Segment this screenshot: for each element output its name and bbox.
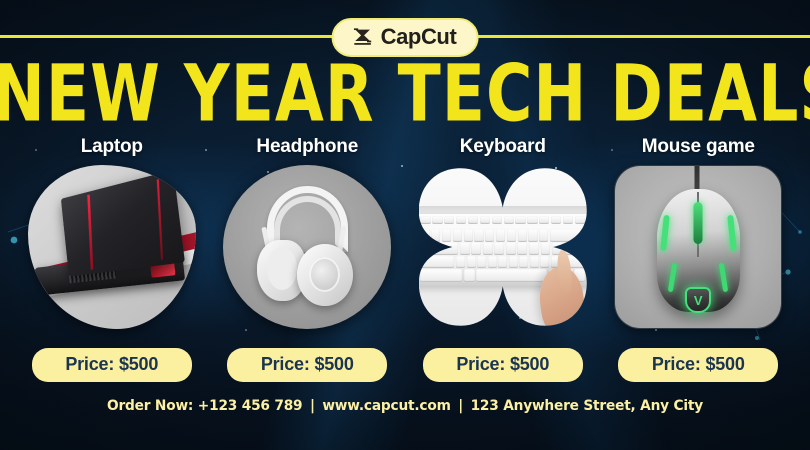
poster-canvas: CapCut NEW YEAR TECH DEALS Laptop — [0, 0, 810, 450]
product-card-mouse[interactable]: Mouse game V — [601, 136, 797, 329]
footer-contact-bar: Order Now: +123 456 789 | www.capcut.com… — [8, 398, 802, 414]
product-label-headphone: Headphone — [210, 136, 406, 158]
footer-separator-2: | — [455, 398, 466, 414]
price-row: Price: $500 Price: $500 Price: $500 Pric… — [0, 348, 810, 382]
laptop-photo — [28, 165, 196, 329]
price-cell-keyboard: Price: $500 — [405, 348, 601, 382]
price-badge-laptop[interactable]: Price: $500 — [32, 348, 192, 382]
price-badge-headphone[interactable]: Price: $500 — [227, 348, 387, 382]
capcut-logo: CapCut — [332, 18, 479, 57]
price-cell-mouse: Price: $500 — [601, 348, 797, 382]
product-card-keyboard[interactable]: Keyboard — [405, 136, 601, 329]
laptop-photo-frame — [28, 165, 196, 329]
price-cell-headphone: Price: $500 — [210, 348, 406, 382]
product-image-headphone — [223, 165, 391, 329]
price-badge-keyboard[interactable]: Price: $500 — [423, 348, 583, 382]
product-label-keyboard: Keyboard — [405, 136, 601, 158]
product-label-laptop: Laptop — [14, 136, 210, 158]
product-card-headphone[interactable]: Headphone — [210, 136, 406, 329]
capcut-hourglass-icon — [352, 26, 374, 48]
price-badge-mouse[interactable]: Price: $500 — [618, 348, 778, 382]
mouse-photo: V — [615, 166, 781, 328]
product-image-laptop — [28, 165, 196, 329]
keyboard-photo-frame — [419, 165, 587, 329]
capcut-logo-text: CapCut — [381, 26, 457, 48]
footer-website[interactable]: www.capcut.com — [322, 398, 450, 414]
price-cell-laptop: Price: $500 — [14, 348, 210, 382]
product-grid: Laptop Headphone — [0, 136, 810, 329]
footer-address: 123 Anywhere Street, Any City — [471, 398, 703, 414]
headphone-photo-frame — [223, 165, 391, 329]
product-image-mouse: V — [614, 165, 782, 329]
keyboard-photo — [419, 165, 587, 329]
product-card-laptop[interactable]: Laptop — [14, 136, 210, 329]
product-label-mouse: Mouse game — [601, 136, 797, 158]
product-image-keyboard — [419, 165, 587, 329]
mouse-logo-icon: V — [685, 287, 711, 313]
page-title: NEW YEAR TECH DEALS — [0, 55, 810, 133]
headphone-photo — [223, 165, 391, 329]
footer-separator-1: | — [307, 398, 318, 414]
mouse-photo-frame: V — [614, 165, 782, 329]
footer-order-now: Order Now: +123 456 789 — [107, 398, 302, 414]
